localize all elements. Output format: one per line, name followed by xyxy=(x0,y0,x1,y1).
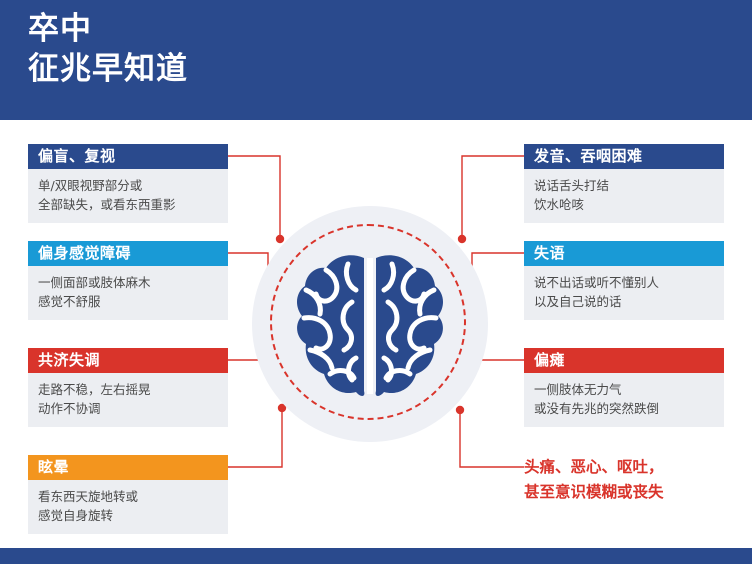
card-ataxia-title: 共济失调 xyxy=(28,348,228,373)
card-sensory-line1: 一侧面部或肢体麻木 xyxy=(38,273,218,292)
card-ataxia-body: 走路不稳，左右摇晃 动作不协调 xyxy=(28,373,228,427)
card-speech-line2: 饮水呛咳 xyxy=(534,195,714,214)
card-hemiplegia-title: 偏瘫 xyxy=(524,348,724,373)
card-vertigo[interactable]: 眩晕 看东西天旋地转或 感觉自身旋转 xyxy=(28,455,228,534)
highlight-headache-block: 头痛、恶心、呕吐， 甚至意识模糊或丧失 xyxy=(524,455,752,505)
card-ataxia[interactable]: 共济失调 走路不稳，左右摇晃 动作不协调 xyxy=(28,348,228,427)
card-hemiplegia-line1: 一侧肢体无力气 xyxy=(534,380,714,399)
card-aphasia[interactable]: 失语 说不出话或听不懂别人 以及自己说的话 xyxy=(524,241,724,320)
card-vision-title: 偏盲、复视 xyxy=(28,144,228,169)
card-hemiplegia-line2: 或没有先兆的突然跌倒 xyxy=(534,399,714,418)
card-sensory-title: 偏身感觉障碍 xyxy=(28,241,228,266)
card-vertigo-body: 看东西天旋地转或 感觉自身旋转 xyxy=(28,480,228,534)
card-hemiplegia-body: 一侧肢体无力气 或没有先兆的突然跌倒 xyxy=(524,373,724,427)
card-vision-body: 单/双眼视野部分或 全部缺失，或看东西重影 xyxy=(28,169,228,223)
card-vertigo-line2: 感觉自身旋转 xyxy=(38,506,218,525)
card-hemiplegia[interactable]: 偏瘫 一侧肢体无力气 或没有先兆的突然跌倒 xyxy=(524,348,724,427)
card-ataxia-line2: 动作不协调 xyxy=(38,399,218,418)
card-vertigo-line1: 看东西天旋地转或 xyxy=(38,487,218,506)
card-sensory-line2: 感觉不舒服 xyxy=(38,292,218,311)
card-speech[interactable]: 发音、吞咽困难 说话舌头打结 饮水呛咳 xyxy=(524,144,724,223)
card-aphasia-title: 失语 xyxy=(524,241,724,266)
card-ataxia-line1: 走路不稳，左右摇晃 xyxy=(38,380,218,399)
card-vision[interactable]: 偏盲、复视 单/双眼视野部分或 全部缺失，或看东西重影 xyxy=(28,144,228,223)
card-vision-line1: 单/双眼视野部分或 xyxy=(38,176,218,195)
page-title-line1: 卒中 xyxy=(28,10,92,48)
footer-band xyxy=(0,548,752,564)
card-aphasia-body: 说不出话或听不懂别人 以及自己说的话 xyxy=(524,266,724,320)
card-speech-line1: 说话舌头打结 xyxy=(534,176,714,195)
card-sensory-body: 一侧面部或肢体麻木 感觉不舒服 xyxy=(28,266,228,320)
card-aphasia-line1: 说不出话或听不懂别人 xyxy=(534,273,714,292)
card-aphasia-line2: 以及自己说的话 xyxy=(534,292,714,311)
center-graphic xyxy=(252,206,488,442)
card-sensory[interactable]: 偏身感觉障碍 一侧面部或肢体麻木 感觉不舒服 xyxy=(28,241,228,320)
card-vertigo-title: 眩晕 xyxy=(28,455,228,480)
card-vision-line2: 全部缺失，或看东西重影 xyxy=(38,195,218,214)
highlight-line2: 甚至意识模糊或丧失 xyxy=(524,480,752,505)
page-title-line2: 征兆早知道 xyxy=(28,50,188,88)
highlight-line1: 头痛、恶心、呕吐， xyxy=(524,455,752,480)
brain-icon xyxy=(290,246,450,406)
card-speech-title: 发音、吞咽困难 xyxy=(524,144,724,169)
card-speech-body: 说话舌头打结 饮水呛咳 xyxy=(524,169,724,223)
